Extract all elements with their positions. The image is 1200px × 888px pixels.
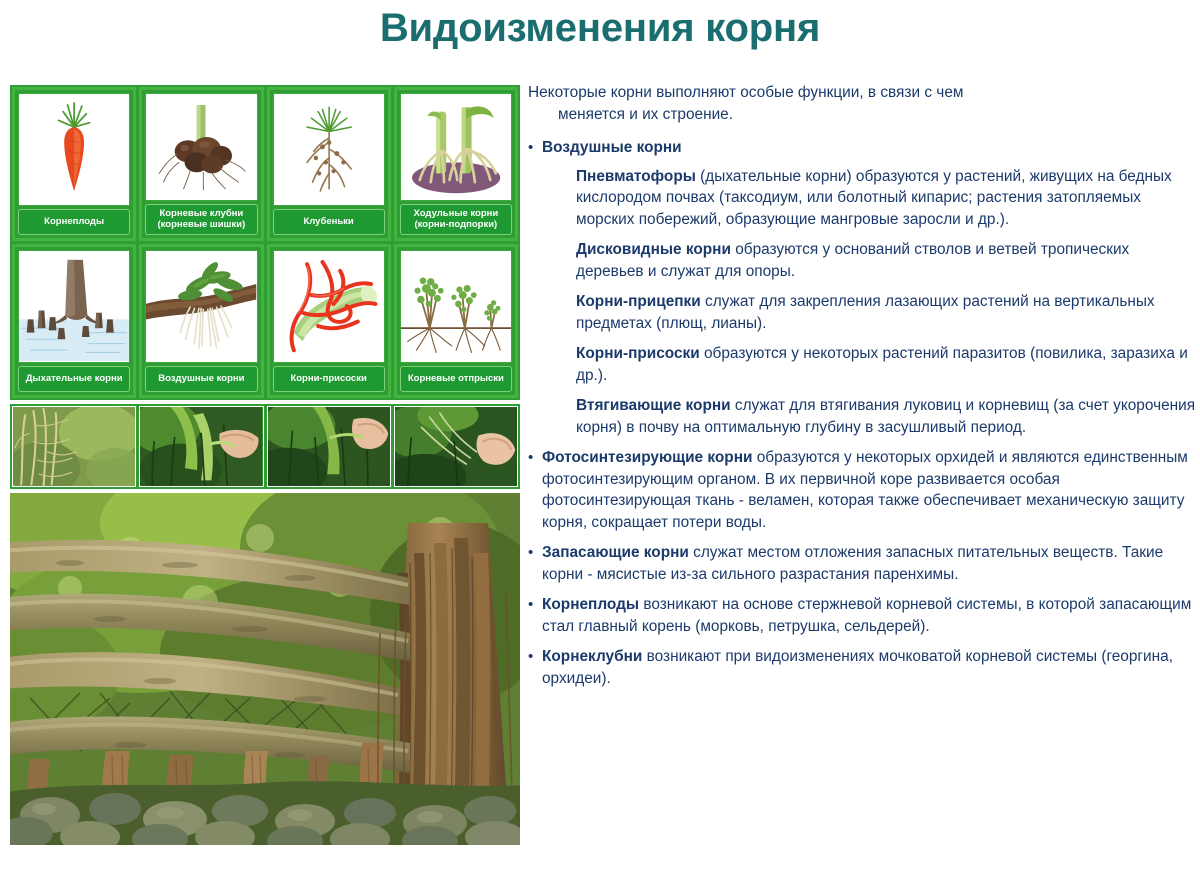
card-caption: Ходульные корни(корни-подпорки) [400,204,512,235]
definition: возникают на основе стержневой корневой … [542,596,1191,635]
page-title: Видоизменения корня [0,6,1200,51]
card-caption: Дыхательные корни [18,366,130,392]
carrot-illustration [18,93,130,206]
bullet-vozdushnye-korni: Воздушные корни [528,137,1196,159]
card-korni-prisoski[interactable]: Корни-присоски [267,244,391,398]
bullet-zapasayushchie-korni: Запасающие корни служат местом отложения… [528,542,1196,585]
term: Корнеклубни [542,648,642,665]
photo-strip [10,404,520,489]
card-kornevye-otpryski[interactable]: Корневые отпрыски [394,244,518,398]
term: Дисковидные корни [576,241,731,258]
card-caption: Клубеньки [273,209,385,235]
bullet-korneklubni: Корнеклубни возникают при видоизменениях… [528,646,1196,689]
card-caption: Воздушные корни [145,366,257,392]
illustrations-column: Корнеплоды [10,85,520,850]
breathing-roots-illustration [18,250,130,363]
card-caption: Корни-присоски [273,366,385,392]
photo-vine-hand-1 [139,406,263,487]
haustoria-illustration [273,250,385,363]
intro-line-1: Некоторые корни выполняют особые функции… [528,84,963,101]
root-types-grid: Корнеплоды [10,85,520,400]
term: Запасающие корни [542,544,689,561]
sub-pnevmatofory: Пневматофоры (дыхательные корни) образую… [528,166,1196,231]
sub-korni-prisoski: Корни-присоски образуются у некоторых ра… [528,343,1196,386]
sub-diskovidnye-korni: Дисковидные корни образуются у оснований… [528,239,1196,282]
card-caption: Корневые отпрыски [400,366,512,392]
card-klubenki[interactable]: Клубеньки [267,87,391,241]
term: Корнеплоды [542,596,639,613]
photo-roots-closeup [12,406,136,487]
card-korneplody[interactable]: Корнеплоды [12,87,136,241]
bullet-fotosinteziruyushchie-korni: Фотосинтезирующие корни образуются у нек… [528,447,1196,533]
photo-vine-hand-3 [394,406,518,487]
term: Корни-прицепки [576,293,701,310]
root-nodules-illustration [273,93,385,206]
card-dykhatelnye-korni[interactable]: Дыхательные корни [12,244,136,398]
card-caption: Корневые клубни(корневые шишки) [145,204,257,235]
term: Пневматофоры [576,168,696,185]
explanatory-text-column: Некоторые корни выполняют особые функции… [528,82,1196,698]
photo-vine-hand-2 [267,406,391,487]
stilt-roots-illustration [400,93,512,201]
banyan-prop-roots-photo [10,493,520,845]
sub-vtyagivayushchie-korni: Втягивающие корни служат для втягивания … [528,395,1196,438]
intro-line-2: меняется и их строение. [528,104,1196,126]
card-khodulnye-korni[interactable]: Ходульные корни(корни-подпорки) [394,87,518,241]
aerial-roots-illustration [145,250,257,363]
term: Втягивающие корни [576,397,731,414]
sub-korni-pricepki: Корни-прицепки служат для закрепления ла… [528,291,1196,334]
bullet-heading: Воздушные корни [542,139,682,156]
card-caption: Корнеплоды [18,209,130,235]
intro-paragraph: Некоторые корни выполняют особые функции… [528,82,1196,125]
bullet-korneplody: Корнеплоды возникают на основе стержнево… [528,594,1196,637]
term: Корни-присоски [576,345,700,362]
term: Фотосинтезирующие корни [542,449,752,466]
root-suckers-illustration [400,250,512,363]
root-tubers-illustration [145,93,257,201]
card-vozdushnye-korni[interactable]: Воздушные корни [139,244,263,398]
card-kornevye-klubni[interactable]: Корневые клубни(корневые шишки) [139,87,263,241]
